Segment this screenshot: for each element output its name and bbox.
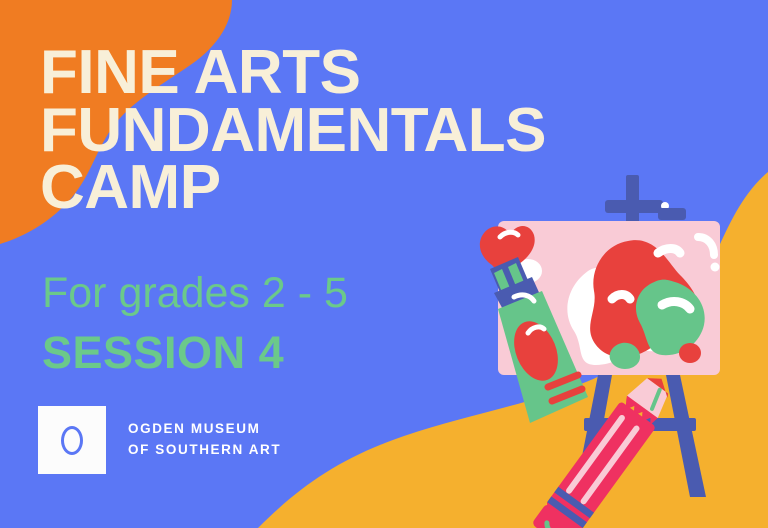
logo-name-line-2: OF SOUTHERN ART [128, 440, 281, 461]
headline-line-1: FINE ARTS [40, 44, 700, 102]
logo-mark-square [38, 406, 106, 474]
poster-canvas: FINE ARTS FUNDAMENTALS CAMP For grades 2… [0, 0, 768, 528]
headline-line-2: FUNDAMENTALS [40, 102, 700, 160]
logo-o-icon [61, 426, 83, 455]
museum-logo: OGDEN MUSEUM OF SOUTHERN ART [38, 406, 281, 474]
paint-dot-red [679, 343, 701, 363]
logo-name-line-1: OGDEN MUSEUM [128, 419, 281, 440]
highlight-dot [711, 263, 720, 272]
easel-leg-right [666, 375, 706, 497]
logo-wordmark: OGDEN MUSEUM OF SOUTHERN ART [128, 419, 281, 460]
art-easel-illustration [470, 175, 768, 528]
headline-line-3: CAMP [40, 159, 700, 217]
session-label: SESSION 4 [42, 330, 284, 375]
page-title: FINE ARTS FUNDAMENTALS CAMP [40, 44, 700, 217]
highlight-stroke-2 [612, 295, 630, 300]
subtitle-grades: For grades 2 - 5 [42, 272, 348, 315]
highlight-stroke-1 [658, 249, 680, 254]
